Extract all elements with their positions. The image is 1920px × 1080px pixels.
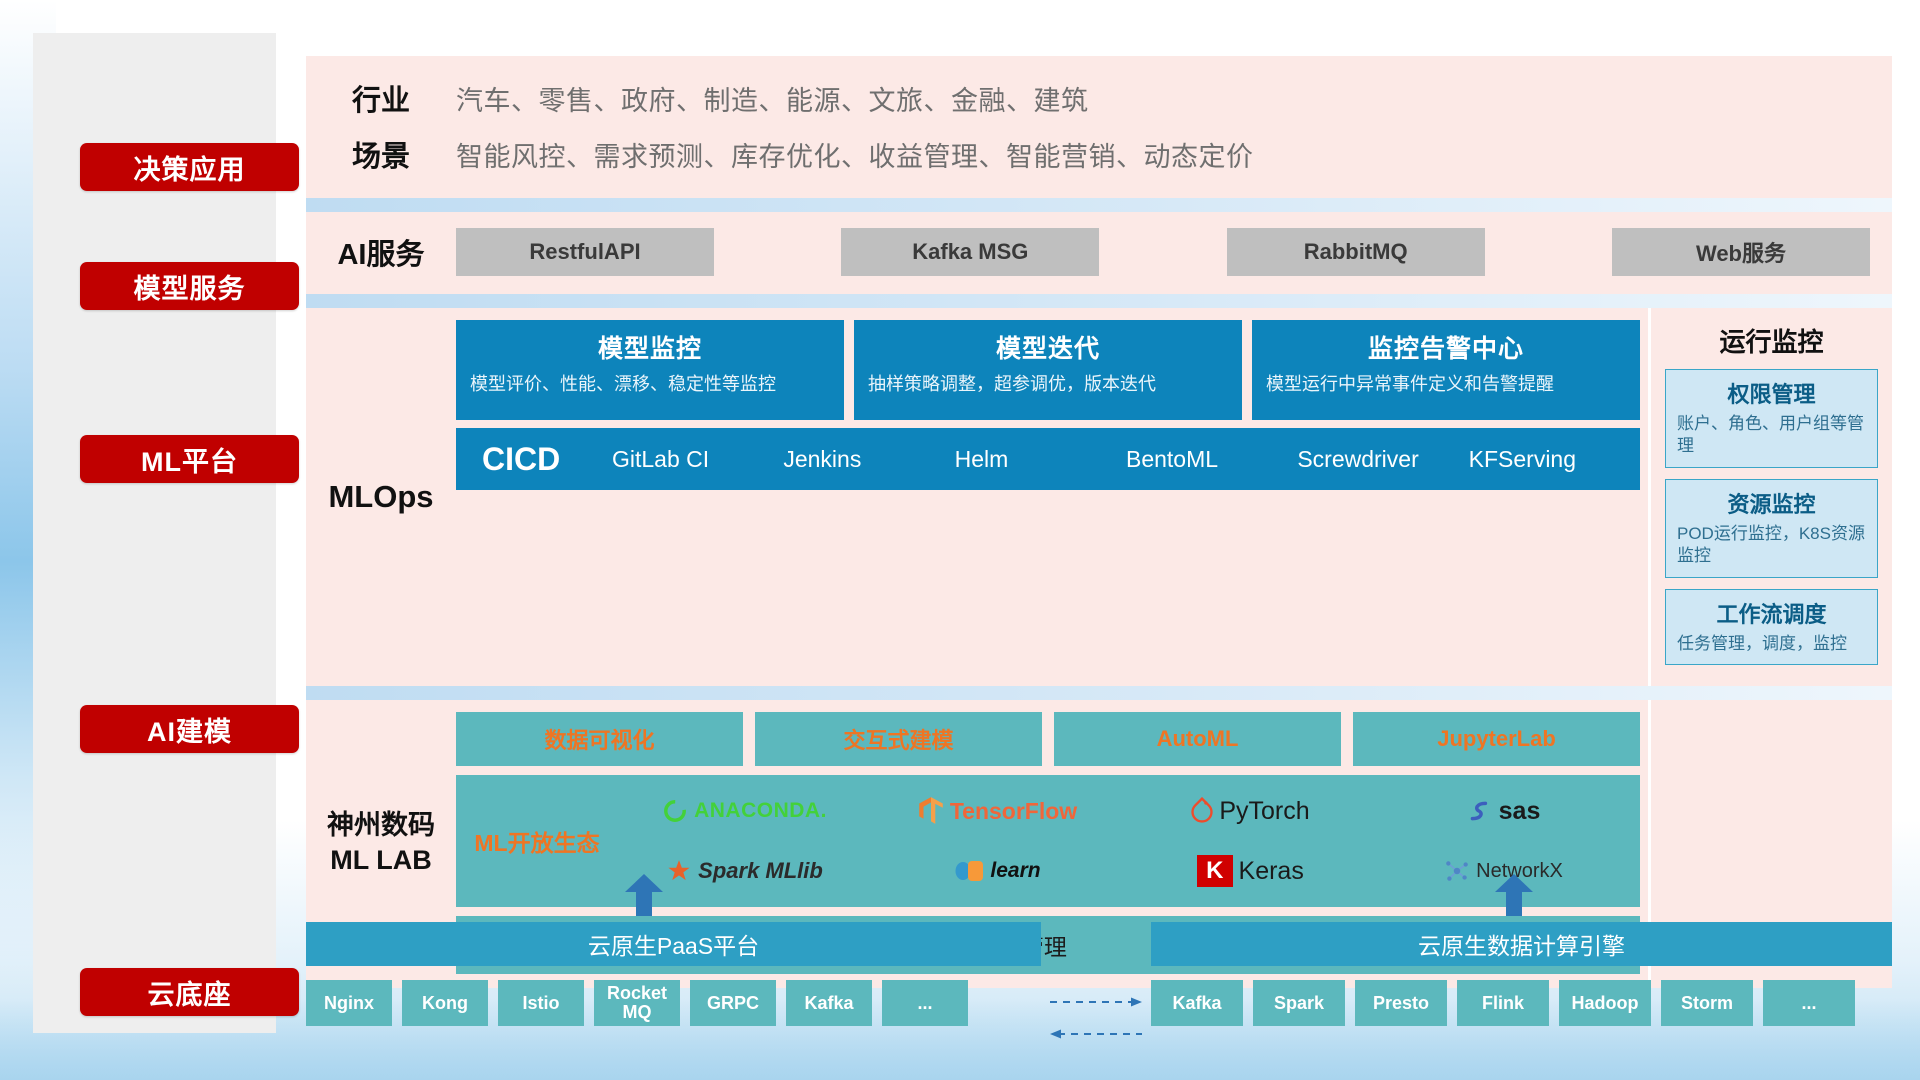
ml-lab-label-line1: 神州数码 xyxy=(327,808,435,843)
paas-chip-nginx[interactable]: Nginx xyxy=(306,980,392,1026)
paas-chip-kafka[interactable]: Kafka xyxy=(786,980,872,1026)
arrow-up-engine-icon xyxy=(1491,874,1537,916)
mlops-label: MLOps xyxy=(306,320,456,674)
card-title: 权限管理 xyxy=(1677,377,1866,409)
paas-chip-kong[interactable]: Kong xyxy=(402,980,488,1026)
logo-text: sas xyxy=(1499,797,1541,826)
ml-ecosystem-label: ML开放生态 xyxy=(456,824,618,858)
sidebar-item-label: AI建模 xyxy=(147,710,232,749)
bidirectional-dashed-arrows xyxy=(1046,990,1146,1046)
cloud-base-section: 云原生PaaS平台 云原生数据计算引擎 Nginx Kong Istio Roc… xyxy=(306,870,1892,1070)
monitoring-card-resource[interactable]: 资源监控 POD运行监控，K8S资源监控 xyxy=(1665,479,1878,578)
ai-service-chip-rabbitmq[interactable]: RabbitMQ xyxy=(1227,228,1485,276)
main-stack: 行业 汽车、零售、政府、制造、能源、文旅、金融、建筑 场景 智能风控、需求预测、… xyxy=(306,0,1892,988)
sidebar: 决策应用 模型服务 ML平台 AI建模 云底座 xyxy=(33,33,276,1033)
sidebar-item-label: ML平台 xyxy=(141,440,238,479)
sidebar-item-label: 云底座 xyxy=(148,973,232,1012)
ai-service-chip-restfulapi[interactable]: RestfulAPI xyxy=(456,228,714,276)
engine-chip-kafka[interactable]: Kafka xyxy=(1151,980,1243,1026)
arrow-up-paas-icon xyxy=(621,874,667,916)
band-divider xyxy=(306,686,1892,700)
sidebar-item-label: 模型服务 xyxy=(134,267,246,306)
sidebar-item-cloud-base[interactable]: 云底座 xyxy=(80,968,299,1016)
cicd-tool-list: GitLab CI Jenkins Helm BentoML Screwdriv… xyxy=(612,448,1640,471)
card-title: 模型监控 xyxy=(470,329,830,365)
band-divider xyxy=(306,294,1892,308)
ml-lab-chip-interactive-modeling[interactable]: 交互式建模 xyxy=(755,712,1042,766)
card-title: 工作流调度 xyxy=(1677,597,1866,629)
ai-service-chip-row: RestfulAPI Kafka MSG RabbitMQ Web服务 xyxy=(456,228,1892,276)
sas-logo: sas xyxy=(1467,797,1541,826)
mlops-card-model-iteration[interactable]: 模型迭代 抽样策略调整，超参调优，版本迭代 xyxy=(854,320,1242,420)
runtime-monitoring-panel: 运行监控 权限管理 账户、角色、用户组等管理 资源监控 POD运行监控，K8S资… xyxy=(1648,308,1892,686)
sidebar-item-decision-app[interactable]: 决策应用 xyxy=(80,143,299,191)
card-desc: 任务管理，调度，监控 xyxy=(1677,633,1866,655)
card-title: 资源监控 xyxy=(1677,487,1866,519)
ml-lab-chip-automl[interactable]: AutoML xyxy=(1054,712,1341,766)
scenario-value: 智能风控、需求预测、库存优化、收益管理、智能营销、动态定价 xyxy=(456,135,1254,174)
ml-lab-chip-row: 数据可视化 交互式建模 AutoML JupyterLab xyxy=(456,712,1640,766)
sidebar-item-ai-modeling[interactable]: AI建模 xyxy=(80,705,299,753)
cicd-tool-screwdriver[interactable]: Screwdriver xyxy=(1297,448,1468,471)
industry-label: 行业 xyxy=(306,77,456,119)
cicd-tool-gitlab-ci[interactable]: GitLab CI xyxy=(612,448,783,471)
engine-chip-storm[interactable]: Storm xyxy=(1661,980,1753,1026)
industry-row: 行业 汽车、零售、政府、制造、能源、文旅、金融、建筑 xyxy=(306,70,1892,126)
card-title: 模型迭代 xyxy=(868,329,1228,365)
cicd-tool-bentoml[interactable]: BentoML xyxy=(1126,448,1297,471)
card-desc: 模型运行中异常事件定义和告警提醒 xyxy=(1266,372,1626,396)
engine-chip-presto[interactable]: Presto xyxy=(1355,980,1447,1026)
logo-text: PyTorch xyxy=(1219,797,1309,826)
anaconda-logo: ANACONDA. xyxy=(662,798,827,824)
pytorch-logo: PyTorch xyxy=(1191,797,1309,826)
card-desc: 账户、角色、用户组等管理 xyxy=(1677,413,1866,458)
decision-application-band: 行业 汽车、零售、政府、制造、能源、文旅、金融、建筑 场景 智能风控、需求预测、… xyxy=(306,56,1892,198)
ai-service-chip-kafka-msg[interactable]: Kafka MSG xyxy=(841,228,1099,276)
card-title: 监控告警中心 xyxy=(1266,329,1626,365)
mlops-section: MLOps 模型监控 模型评价、性能、漂移、稳定性等监控 模型迭代 抽样策略调整… xyxy=(306,308,1648,686)
mlops-card-model-monitoring[interactable]: 模型监控 模型评价、性能、漂移、稳定性等监控 xyxy=(456,320,844,420)
runtime-monitoring-title: 运行监控 xyxy=(1665,322,1878,359)
ml-lab-chip-data-visualization[interactable]: 数据可视化 xyxy=(456,712,743,766)
card-desc: POD运行监控，K8S资源监控 xyxy=(1677,523,1866,568)
scenario-row: 场景 智能风控、需求预测、库存优化、收益管理、智能营销、动态定价 xyxy=(306,126,1892,182)
cicd-tool-kfserving[interactable]: KFServing xyxy=(1469,448,1640,471)
industry-value: 汽车、零售、政府、制造、能源、文旅、金融、建筑 xyxy=(456,79,1089,118)
cicd-title: CICD xyxy=(482,441,612,478)
monitoring-card-permission[interactable]: 权限管理 账户、角色、用户组等管理 xyxy=(1665,369,1878,468)
sidebar-item-model-service[interactable]: 模型服务 xyxy=(80,262,299,310)
mlops-card-alert-center[interactable]: 监控告警中心 模型运行中异常事件定义和告警提醒 xyxy=(1252,320,1640,420)
paas-chip-grpc[interactable]: GRPC xyxy=(690,980,776,1026)
engine-chip-more[interactable]: ... xyxy=(1763,980,1855,1026)
logo-text: TensorFlow xyxy=(950,798,1077,825)
scenario-label: 场景 xyxy=(306,133,456,175)
paas-chip-more[interactable]: ... xyxy=(882,980,968,1026)
logo-text: ANACONDA. xyxy=(694,799,827,823)
cloud-native-data-engine-bar[interactable]: 云原生数据计算引擎 xyxy=(1151,922,1892,966)
cloud-native-paas-bar[interactable]: 云原生PaaS平台 xyxy=(306,922,1041,966)
engine-chip-hadoop[interactable]: Hadoop xyxy=(1559,980,1651,1026)
cicd-tool-helm[interactable]: Helm xyxy=(955,448,1126,471)
paas-component-row: Nginx Kong Istio RocketMQ GRPC Kafka ... xyxy=(306,980,968,1026)
ai-service-label: AI服务 xyxy=(306,231,456,273)
paas-chip-istio[interactable]: Istio xyxy=(498,980,584,1026)
tensorflow-logo: TensorFlow xyxy=(918,796,1077,826)
ai-service-band: AI服务 RestfulAPI Kafka MSG RabbitMQ Web服务 xyxy=(306,212,1892,294)
cicd-bar: CICD GitLab CI Jenkins Helm BentoML Scre… xyxy=(456,428,1640,490)
mlops-body: 模型监控 模型评价、性能、漂移、稳定性等监控 模型迭代 抽样策略调整，超参调优，… xyxy=(456,320,1648,674)
engine-chip-flink[interactable]: Flink xyxy=(1457,980,1549,1026)
sidebar-item-label: 决策应用 xyxy=(134,148,246,187)
card-desc: 抽样策略调整，超参调优，版本迭代 xyxy=(868,372,1228,396)
monitoring-card-workflow[interactable]: 工作流调度 任务管理，调度，监控 xyxy=(1665,589,1878,665)
mlops-card-row: 模型监控 模型评价、性能、漂移、稳定性等监控 模型迭代 抽样策略调整，超参调优，… xyxy=(456,320,1640,420)
ai-service-chip-web-service[interactable]: Web服务 xyxy=(1612,228,1870,276)
card-desc: 模型评价、性能、漂移、稳定性等监控 xyxy=(470,372,830,396)
ml-lab-chip-jupyterlab[interactable]: JupyterLab xyxy=(1353,712,1640,766)
mlops-band: MLOps 模型监控 模型评价、性能、漂移、稳定性等监控 模型迭代 抽样策略调整… xyxy=(306,308,1892,686)
engine-chip-spark[interactable]: Spark xyxy=(1253,980,1345,1026)
cicd-tool-jenkins[interactable]: Jenkins xyxy=(783,448,954,471)
band-divider xyxy=(306,198,1892,212)
sidebar-item-ml-platform[interactable]: ML平台 xyxy=(80,435,299,483)
paas-chip-rocketmq[interactable]: RocketMQ xyxy=(594,980,680,1026)
engine-component-row: Kafka Spark Presto Flink Hadoop Storm ..… xyxy=(1151,980,1855,1026)
